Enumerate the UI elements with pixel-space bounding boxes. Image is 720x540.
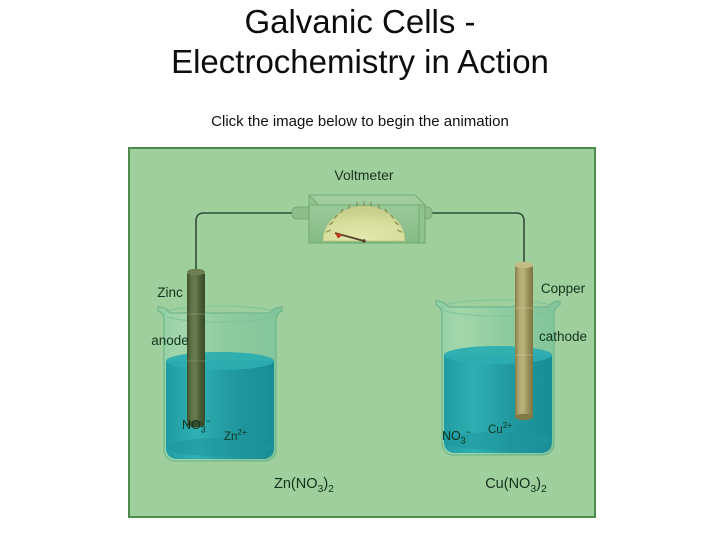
right-copper-ion-label: Cu2+ — [488, 421, 512, 436]
right-solution-word: solution — [446, 515, 586, 518]
voltmeter-needle-pivot — [362, 239, 366, 243]
right-nitrate-ion-label: NO3− — [442, 427, 471, 446]
left-zinc-ion-label: Zn2+ — [224, 428, 247, 443]
right-solution-formula: Cu(NO3)2 — [446, 476, 586, 498]
zinc-anode-label-line-1: Zinc — [134, 285, 206, 301]
left-solution-label: Zn(NO3)2 solution — [234, 459, 374, 518]
right-solution-label: Cu(NO3)2 solution — [446, 459, 586, 518]
left-nitrate-ion-label: NO3− — [182, 416, 211, 435]
page-title-line-2: Electrochemistry in Action — [0, 42, 720, 82]
left-solution-word: solution — [234, 515, 374, 518]
copper-cathode-label: Copper cathode — [526, 249, 596, 377]
copper-cathode-label-line-2: cathode — [526, 329, 596, 345]
galvanic-cell-animation-image[interactable]: Voltmeter Zinc anode Copper cathode NO3−… — [128, 147, 596, 518]
page-title: Galvanic Cells - Electrochemistry in Act… — [0, 2, 720, 82]
zinc-anode-label: Zinc anode — [134, 253, 206, 381]
voltmeter-label: Voltmeter — [130, 168, 596, 183]
voltmeter[interactable] — [292, 195, 432, 243]
zinc-anode-label-line-2: anode — [134, 333, 206, 349]
left-solution-formula: Zn(NO3)2 — [234, 476, 374, 498]
page-title-line-1: Galvanic Cells - — [0, 2, 720, 42]
instruction-subtitle: Click the image below to begin the anima… — [0, 112, 720, 132]
copper-cathode-label-line-1: Copper — [526, 281, 596, 297]
